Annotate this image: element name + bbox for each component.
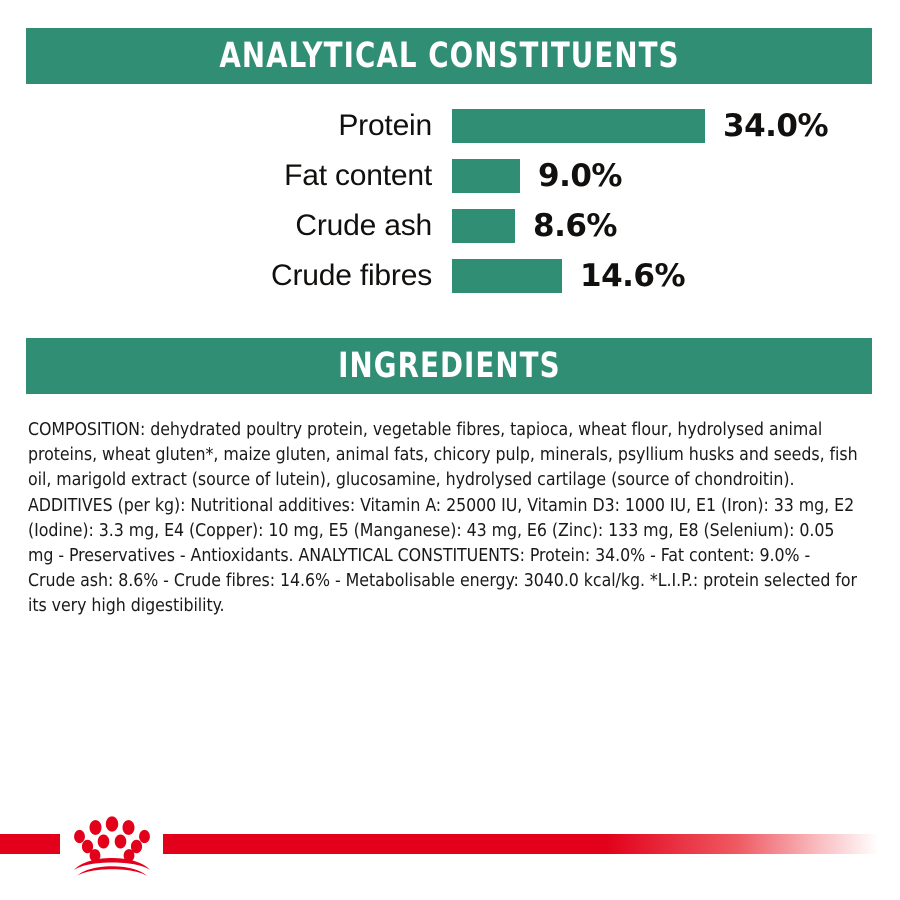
brand-strip-right-segment — [163, 834, 900, 854]
section-title-ingredients: INGREDIENTS — [338, 349, 560, 384]
bar-label-crude-fibres: Crude fibres — [0, 259, 432, 293]
table-row: Crude fibres 14.6% — [0, 254, 900, 298]
royal-canin-crown-icon — [62, 814, 162, 876]
bar-track-crude-ash — [452, 209, 515, 243]
bar-value-crude-fibres: 14.6% — [580, 258, 685, 294]
table-row: Protein 34.0% — [0, 104, 900, 148]
bar-fill-protein — [452, 109, 705, 143]
bar-label-crude-ash: Crude ash — [0, 209, 432, 243]
brand-strip-left-segment — [0, 834, 60, 854]
bar-track-fat-content — [452, 159, 520, 193]
section-header-ingredients: INGREDIENTS — [26, 338, 872, 394]
bar-label-fat-content: Fat content — [0, 159, 432, 193]
bar-label-protein: Protein — [0, 109, 432, 143]
table-row: Crude ash 8.6% — [0, 204, 900, 248]
bar-value-protein: 34.0% — [723, 108, 828, 144]
bar-value-fat-content: 9.0% — [538, 158, 622, 194]
analytical-constituents-chart: Protein 34.0% Fat content 9.0% Crude ash… — [0, 104, 900, 304]
bar-track-crude-fibres — [452, 259, 562, 293]
bar-fill-crude-fibres — [452, 259, 562, 293]
table-row: Fat content 9.0% — [0, 154, 900, 198]
bar-track-protein — [452, 109, 705, 143]
section-title-analytical-constituents: ANALYTICAL CONSTITUENTS — [219, 39, 679, 74]
section-header-analytical-constituents: ANALYTICAL CONSTITUENTS — [26, 28, 872, 84]
bar-fill-fat-content — [452, 159, 520, 193]
bar-fill-crude-ash — [452, 209, 515, 243]
ingredients-composition-text: COMPOSITION: dehydrated poultry protein,… — [28, 418, 860, 620]
bar-value-crude-ash: 8.6% — [533, 208, 617, 244]
product-info-page: ANALYTICAL CONSTITUENTS Protein 34.0% Fa… — [0, 0, 900, 900]
footer-whitespace — [0, 876, 900, 900]
